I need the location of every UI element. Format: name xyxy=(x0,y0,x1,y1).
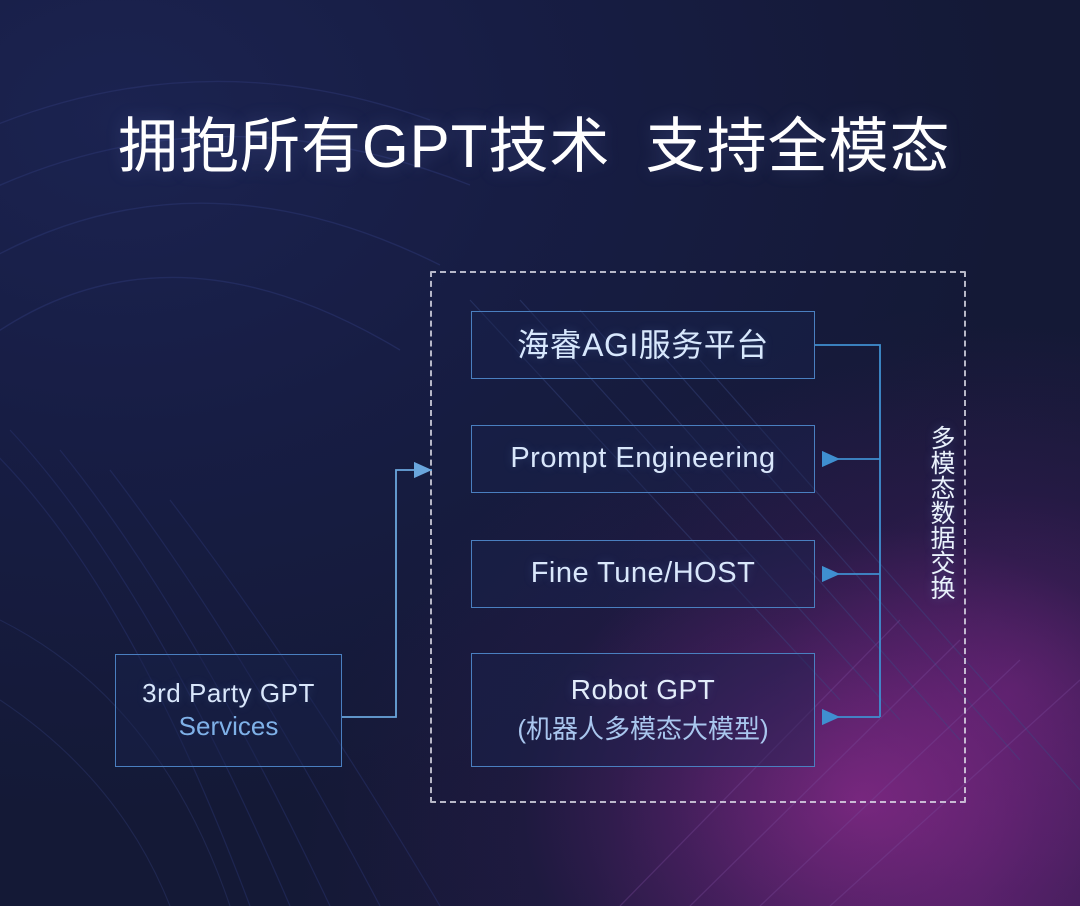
vertical-label-multimodal-data-exchange: 多模态数据交换 xyxy=(912,425,956,600)
node-robot-title: Robot GPT xyxy=(571,674,716,706)
node-finetune-title: Fine Tune/HOST xyxy=(531,557,756,590)
node-fine-tune-host[interactable]: Fine Tune/HOST xyxy=(471,540,815,608)
slide-title: 拥抱所有GPT技术 支持全模态 xyxy=(118,112,951,183)
node-robot-gpt[interactable]: Robot GPT (机器人多模态大模型) xyxy=(471,653,815,767)
node-robot-subtitle: (机器人多模态大模型) xyxy=(517,709,768,746)
node-prompt-title: Prompt Engineering xyxy=(510,442,775,475)
node-thirdparty-title: 3rd Party GPT xyxy=(142,679,315,709)
slide-canvas: 拥抱所有GPT技术 支持全模态 xyxy=(0,0,1080,906)
node-prompt-engineering[interactable]: Prompt Engineering xyxy=(471,425,815,493)
node-hairui-agi-platform[interactable]: 海睿AGI服务平台 xyxy=(471,311,815,379)
node-thirdparty-subtitle: Services xyxy=(179,711,279,742)
node-platform-title: 海睿AGI服务平台 xyxy=(517,327,769,364)
node-third-party-gpt-services[interactable]: 3rd Party GPT Services xyxy=(115,654,342,767)
